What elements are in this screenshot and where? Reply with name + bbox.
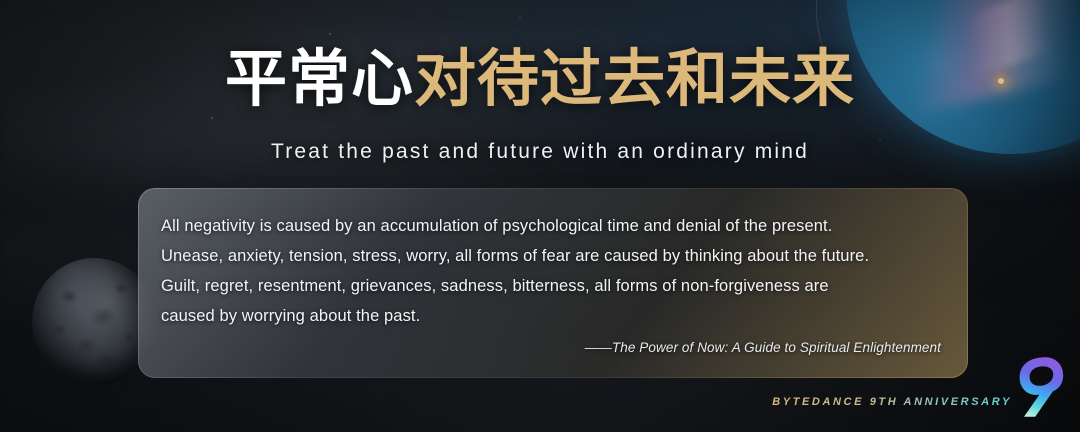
page-title: 平常心对待过去和未来 [0, 48, 1080, 110]
quote-line: caused by worrying about the past. [161, 301, 941, 331]
page-subtitle: Treat the past and future with an ordina… [0, 140, 1080, 164]
quote-attribution: ——The Power of Now: A Guide to Spiritual… [585, 340, 941, 355]
quote-card: All negativity is caused by an accumulat… [138, 188, 968, 378]
anniversary-poster: 平常心对待过去和未来 Treat the past and future wit… [0, 0, 1080, 432]
brand-wordmark: BYTEDANCE 9TH ANNIVERSARY [772, 396, 1012, 418]
brand-lockup: BYTEDANCE 9TH ANNIVERSARY [772, 356, 1064, 418]
quote-line: All negativity is caused by an accumulat… [161, 211, 941, 241]
quote-line: Unease, anxiety, tension, stress, worry,… [161, 241, 941, 271]
quote-line: Guilt, regret, resentment, grievances, s… [161, 271, 941, 301]
title-chinese-white: 平常心 [225, 42, 414, 115]
anniversary-nine-logo [1018, 356, 1064, 418]
title-chinese-gold: 对待过去和未来 [414, 42, 855, 115]
